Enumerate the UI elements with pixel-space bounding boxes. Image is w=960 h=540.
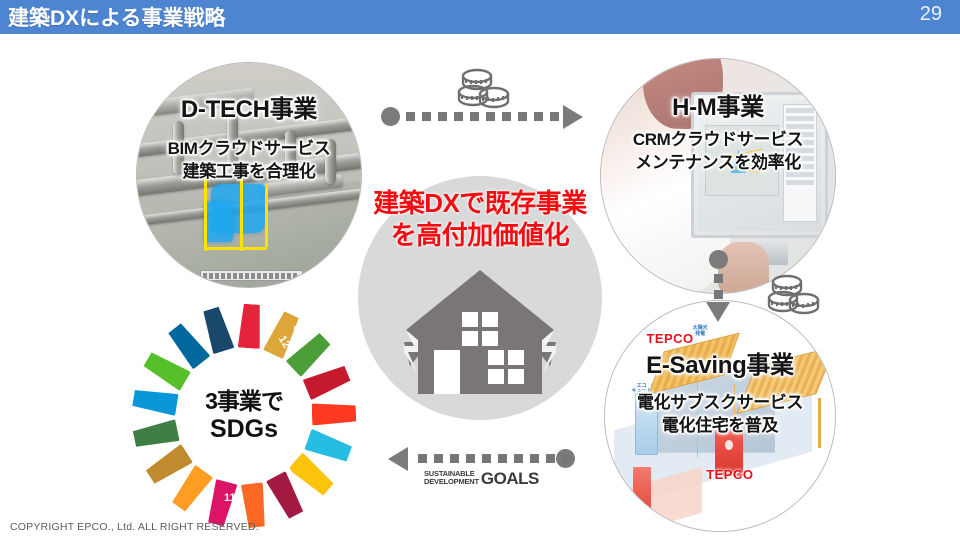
bim-selected-element (204, 202, 233, 242)
bim-dimension-line (204, 247, 267, 250)
connector-bottom-arrowhead (388, 447, 408, 471)
sdg-logo-big: GOALS (481, 471, 539, 486)
tepco-badge-top: TEPCO (646, 331, 693, 346)
sdgs-wheel[interactable]: 128711 3事業で SDGs (128, 300, 360, 532)
coins-icon (766, 272, 822, 321)
hm-sub2: メンテナンスを効率化 (601, 153, 835, 172)
sdgs-line1: 3事業で (188, 389, 300, 415)
connector-top-dot (381, 107, 400, 126)
tepco-badge-bottom: TEPCO (706, 467, 753, 482)
connector-right-arrowhead (706, 302, 730, 322)
circle-esaving[interactable]: 太陽光 発電 エコ キュート TEPCO TEPCO E-Saving事業 電化… (604, 300, 836, 532)
connector-bottom-dashes (418, 454, 571, 463)
dtech-sub2: 建築工事を合理化 (137, 162, 361, 181)
core-headline: 建築DXで既存事業 を高付加価値化 (350, 188, 610, 251)
sdgs-line2: SDGs (188, 415, 300, 443)
page-number: 29 (920, 3, 942, 26)
esaving-sub1: 電化サブスクサービス (605, 393, 835, 412)
esaving-sub2: 電化住宅を普及 (605, 416, 835, 435)
house-icon (404, 268, 556, 400)
dtech-title: D-TECH事業 (137, 97, 361, 124)
page-title: 建築DXによる事業戦略 (8, 2, 226, 32)
hm-person-hand (718, 242, 769, 293)
sdg-logo-small2: DEVELOPMENT (424, 478, 479, 486)
header-bar: 建築DXによる事業戦略 29 (0, 0, 960, 34)
hm-title: H-M事業 (601, 95, 835, 122)
sdgs-goal-number: 11 (224, 492, 236, 504)
bim-toolbar[interactable] (200, 270, 303, 281)
connector-right-dot (709, 250, 728, 269)
ev-charger (633, 467, 651, 513)
bim-dimension-line (204, 179, 207, 251)
connector-top-arrowhead (563, 105, 583, 129)
bim-dimension-line (240, 175, 243, 251)
coins-icon (456, 66, 512, 115)
sdgs-center-text: 3事業で SDGs (188, 389, 300, 443)
sdg-goals-logo: SUSTAINABLE DEVELOPMENT GOALS (424, 470, 539, 486)
connector-right-dashes (714, 274, 723, 299)
core-headline-line2: を高付加価値化 (350, 220, 610, 252)
dtech-sub1: BIMクラウドサービス (137, 139, 361, 158)
core-headline-line1: 建築DXで既存事業 (350, 188, 610, 220)
bim-dimension-line (265, 184, 268, 247)
esaving-title: E-Saving事業 (605, 353, 835, 380)
copyright-footer: COPYRIGHT EPCO., Ltd. ALL RIGHT RESERVED… (10, 521, 259, 533)
hm-sub1: CRMクラウドサービス (601, 130, 835, 149)
slide-root: 建築DXによる事業戦略 29 D-TECH事業 BIMクラウドサービス 建築工事… (0, 0, 960, 540)
circle-dtech[interactable]: D-TECH事業 BIMクラウドサービス 建築工事を合理化 (136, 62, 362, 288)
